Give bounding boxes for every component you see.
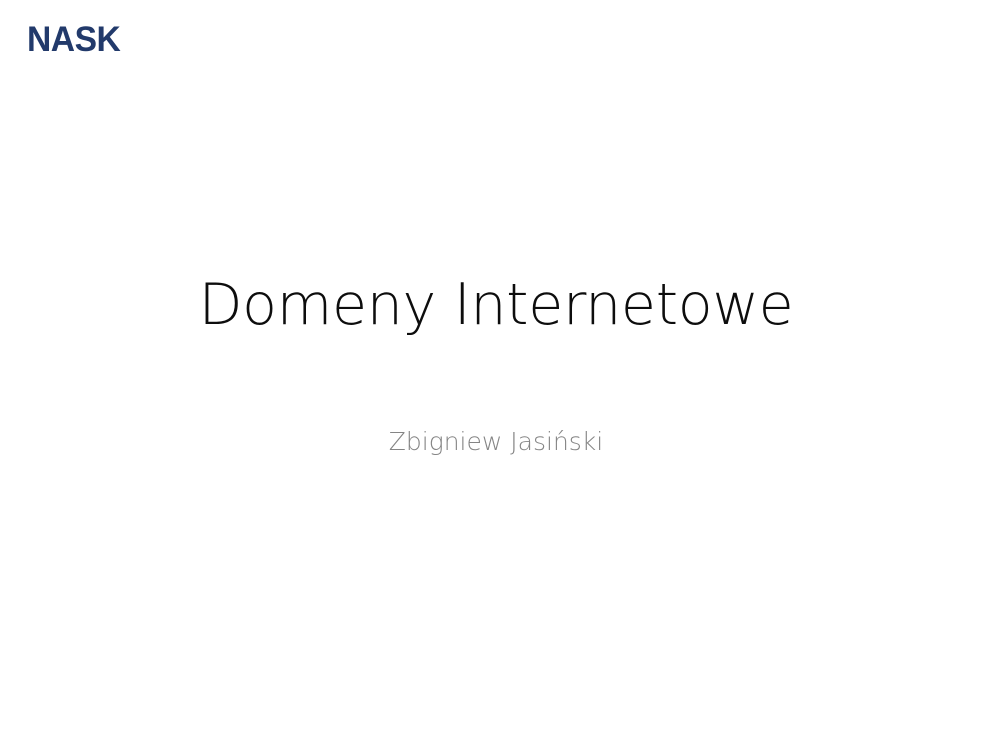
title-block: Domeny Internetowe [0, 272, 992, 338]
page-title: Domeny Internetowe [0, 272, 992, 338]
subtitle-block: Zbigniew Jasiński [0, 426, 992, 458]
nask-logo-wordmark: NASK [27, 22, 120, 57]
nask-logo: NASK [27, 21, 159, 57]
author-name: Zbigniew Jasiński [0, 426, 992, 458]
presentation-slide: NASK Domeny Internetowe Zbigniew Jasińsk… [0, 0, 992, 744]
